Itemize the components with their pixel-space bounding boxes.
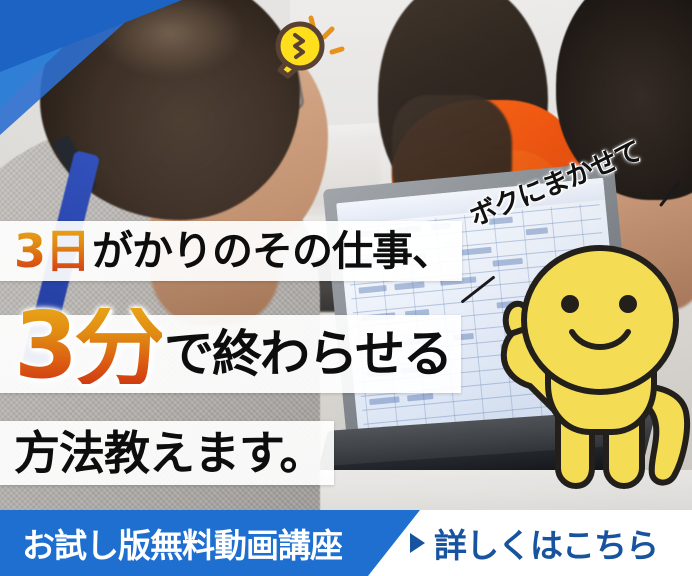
cta-link[interactable]: 詳しくはこちら — [410, 510, 658, 576]
headline-band-1: 3日 がかりのその仕事、 — [0, 221, 462, 281]
headline-2-highlight: 3分 — [14, 308, 162, 383]
lightbulb-icon — [262, 8, 354, 84]
headline-2-rest: で終わらせる — [164, 329, 451, 379]
cta-label[interactable]: 詳しくはこちら — [434, 519, 658, 567]
headline-1-highlight: 3日 — [14, 228, 90, 274]
bottom-bar-blue-label[interactable]: お試し版無料動画講座 — [22, 510, 342, 576]
bottom-cta-bar[interactable]: お試し版無料動画講座 詳しくはこちら — [0, 510, 692, 576]
mascot-head — [524, 248, 676, 392]
corner-shape-dark — [0, 0, 182, 72]
ad-banner[interactable]: ボクにまかせて 3日 がか — [0, 0, 692, 576]
yellow-mascot — [486, 236, 692, 524]
headline-band-3: 方法教えます。 — [0, 421, 334, 485]
headline-1-rest: がかりのその仕事、 — [92, 231, 452, 272]
headline-band-2: 3分 で終わらせる — [0, 315, 461, 393]
lightbulb-body — [278, 24, 322, 76]
headline-3-rest: 方法教えます。 — [14, 430, 324, 476]
play-triangle-icon — [410, 533, 425, 553]
